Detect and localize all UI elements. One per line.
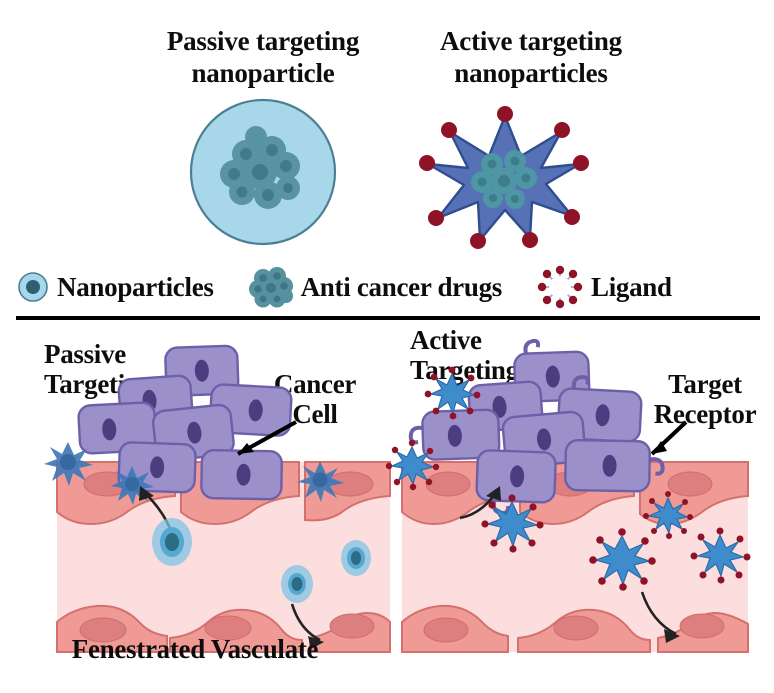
figure-canvas: Passive targeting nanoparticle Active ta…: [0, 0, 774, 693]
legend-item-ligand: Ligand: [536, 264, 672, 310]
legend-item-nanoparticles: Nanoparticles: [16, 270, 214, 304]
active-title: Active targeting nanoparticles: [416, 26, 646, 90]
active-nanoparticle-illustration: [420, 98, 590, 250]
passive-panel: Passive Targeting Cancer Cell: [0, 322, 390, 693]
ligand-nanoparticle-lumen: [589, 528, 656, 591]
cancer-cell: [565, 440, 663, 492]
section-divider: [16, 316, 760, 320]
legend-label-anti-cancer-drugs: Anti cancer drugs: [301, 272, 502, 303]
active-panel: Active Targeting Target Receptor: [390, 322, 774, 693]
nanoparticle-icon: [16, 270, 50, 304]
anti-cancer-drug-icon: [248, 265, 294, 309]
legend: Nanoparticles Anti cancer drugs: [16, 262, 758, 312]
receptor: [525, 341, 538, 354]
passive-nanoparticle-illustration: [168, 92, 358, 252]
legend-item-anti-cancer-drugs: Anti cancer drugs: [248, 265, 502, 309]
cancer-cell: [201, 450, 282, 499]
fenestrated-vasculate-caption: Fenestrated Vasculate: [20, 634, 370, 665]
passive-title: Passive targeting nanoparticle: [138, 26, 388, 90]
ligand-icon: [536, 264, 584, 310]
passive-nanoparticle-svg: [168, 92, 358, 252]
legend-label-ligand: Ligand: [591, 272, 672, 303]
legend-label-nanoparticles: Nanoparticles: [57, 272, 214, 303]
active-panel-graphics: [390, 322, 774, 693]
active-nanoparticle-svg: [420, 98, 590, 250]
